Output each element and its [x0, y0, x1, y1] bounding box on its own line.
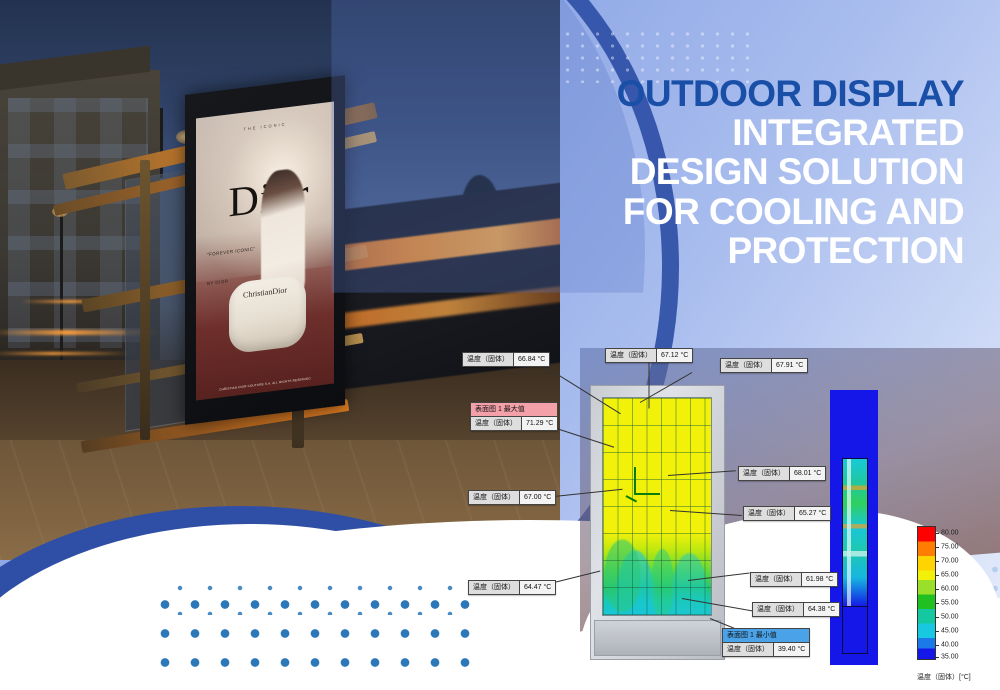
probe-max[interactable]: 表面图 1 最大值 温度（固体） 71.29 °C: [470, 402, 558, 431]
probe-mid-right[interactable]: 温度（固体） 68.01 °C: [738, 466, 826, 481]
colorbar-tick: [935, 533, 939, 534]
colorbar-tick: [935, 617, 939, 618]
colorbar-tick: [935, 589, 939, 590]
cabinet-base: [594, 620, 721, 656]
probe-value: 67.91 °C: [772, 359, 807, 372]
dot-pattern-bottom-left-small: [165, 575, 465, 615]
cabinet-thermal-surface: [602, 397, 712, 616]
probe-bottom-left[interactable]: 温度（固体） 64.47 °C: [468, 580, 556, 595]
probe-value: 67.00 °C: [520, 491, 555, 504]
probe-value: 64.47 °C: [520, 581, 555, 594]
probe-value: 64.38 °C: [804, 603, 839, 616]
colorbar-tick: [935, 575, 939, 576]
probe-key: 温度（固体）: [463, 353, 514, 366]
coordinate-axes-icon: [626, 467, 662, 501]
probe-value: 71.29 °C: [522, 417, 557, 430]
display-cabinet-model: [590, 385, 725, 660]
probe-value: 66.84 °C: [514, 353, 549, 366]
colorbar-tick: [935, 547, 939, 548]
colorbar-tick: [935, 657, 939, 658]
probe-key: 温度（固体）: [721, 359, 772, 372]
probe-key: 温度（固体）: [723, 643, 774, 656]
section-internal-components: [842, 458, 868, 608]
probe-value: 67.12 °C: [657, 349, 692, 362]
colorbar-gradient: [917, 526, 936, 660]
title-line-4: FOR COOLING AND: [494, 192, 964, 231]
colorbar-tick: [935, 561, 939, 562]
colorbar-tick-label: 80.00: [941, 530, 959, 537]
probe-key: 温度（固体）: [751, 573, 802, 586]
colorbar-tick-label: 55.00: [941, 600, 959, 607]
probe-top-left[interactable]: 温度（固体） 66.84 °C: [462, 352, 550, 367]
probe-mid-left[interactable]: 温度（固体） 67.00 °C: [468, 490, 556, 505]
colorbar-tick-label: 45.00: [941, 628, 959, 635]
colorbar-tick: [935, 631, 939, 632]
probe-key: 温度（固体）: [606, 349, 657, 362]
probe-top-right[interactable]: 温度（固体） 67.91 °C: [720, 358, 808, 373]
colorbar-caption-units: 温度（固体）[°C]: [917, 672, 971, 682]
colorbar-tick-label: 70.00: [941, 558, 959, 565]
cfd-simulation-figure: 温度（固体） 66.84 °C 温度（固体） 67.12 °C 温度（固体） 6…: [430, 330, 1000, 690]
advert-byline: BY DIOR: [207, 278, 228, 287]
title-line-2: INTEGRATED: [494, 113, 964, 152]
probe-key: 温度（固体）: [753, 603, 804, 616]
colorbar-tick-label: 65.00: [941, 572, 959, 579]
colorbar-tick-label: 40.00: [941, 642, 959, 649]
max-header: 表面图 1 最大值: [471, 403, 557, 417]
leader-line: [649, 361, 650, 409]
probe-key: 温度（固体）: [744, 507, 795, 520]
title-line-1: OUTDOOR DISPLAY: [494, 74, 964, 113]
max-row: 温度（固体） 71.29 °C: [471, 417, 557, 430]
probe-min[interactable]: 表面图 1 最小值 温度（固体） 39.40 °C: [722, 628, 810, 657]
probe-key: 温度（固体）: [471, 417, 522, 430]
colorbar-tick-label: 35.00: [941, 654, 959, 661]
axis-z: [634, 493, 660, 495]
colorbar-tick-label: 60.00: [941, 586, 959, 593]
axis-y: [634, 467, 636, 495]
probe-top-center[interactable]: 温度（固体） 67.12 °C: [605, 348, 693, 363]
colorbar-tick-label: 75.00: [941, 544, 959, 551]
min-row: 温度（固体） 39.40 °C: [723, 643, 809, 656]
probe-value: 65.27 °C: [795, 507, 830, 520]
colorbar-tick: [935, 645, 939, 646]
title-line-3: DESIGN SOLUTION: [494, 152, 964, 191]
probe-key: 温度（固体）: [739, 467, 790, 480]
section-lower-chamber: [842, 606, 868, 654]
poster-canvas: THE ICONIC Dior "FOREVER ICONIC" BY DIOR…: [0, 0, 1000, 690]
title-line-5: PROTECTION: [494, 231, 964, 270]
probe-value: 61.98 °C: [802, 573, 837, 586]
page-title: OUTDOOR DISPLAY INTEGRATED DESIGN SOLUTI…: [494, 74, 964, 270]
shelter-column: [140, 160, 150, 440]
colorbar-tick: [935, 603, 939, 604]
probe-key: 温度（固体）: [469, 491, 520, 504]
thermal-mesh-grid: [603, 398, 711, 615]
probe-value: 39.40 °C: [774, 643, 809, 656]
probe-value: 68.01 °C: [790, 467, 825, 480]
probe-right-lower[interactable]: 温度（固体） 65.27 °C: [743, 506, 831, 521]
colorbar-tick-label: 50.00: [941, 614, 959, 621]
probe-bottom-mid[interactable]: 温度（固体） 64.38 °C: [752, 602, 840, 617]
probe-bottom-right[interactable]: 温度（固体） 61.98 °C: [750, 572, 838, 587]
probe-key: 温度（固体）: [469, 581, 520, 594]
min-header: 表面图 1 最小值: [723, 629, 809, 643]
